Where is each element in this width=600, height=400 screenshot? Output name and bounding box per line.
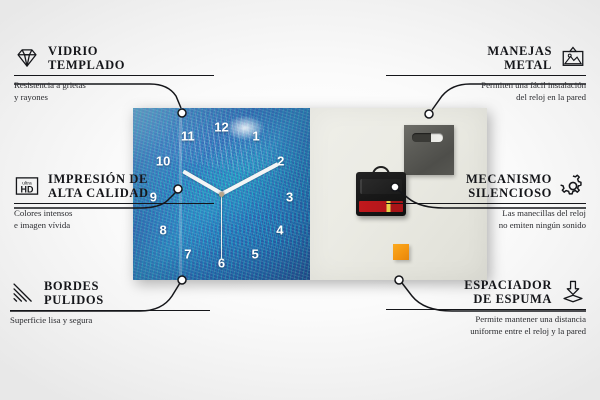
feature-vidrio-templado: VIDRIO TEMPLADO Resistencia a grietas y … [14, 44, 214, 104]
feature-impresion-desc-line1: Colores intensos [14, 208, 214, 220]
feature-espaciador-desc-line1: Permite mantener una distancia [386, 314, 586, 326]
feature-manejas-header: MANEJAS METAL [386, 44, 586, 72]
feature-impresion-rule [14, 203, 214, 204]
infographic-canvas: 12 1 2 3 4 5 6 7 8 9 10 11 [0, 0, 600, 400]
feature-bordes-pulidos: BORDES PULIDOS Superficie lisa y segura [10, 279, 210, 327]
feature-espaciador-desc-line2: uniforme entre el reloj y la pared [386, 326, 586, 338]
feature-manejas-title-line2: METAL [487, 58, 552, 72]
feature-manejas-desc-line1: Permiten una fácil instalación [386, 80, 586, 92]
feature-manejas-desc: Permiten una fácil instalación del reloj… [386, 80, 586, 104]
feature-vidrio-title-line1: VIDRIO [48, 44, 125, 58]
feature-impresion-desc: Colores intensos e imagen vívida [14, 208, 214, 232]
feature-manejas-title-line1: MANEJAS [487, 44, 552, 58]
feature-mecanismo-title: MECANISMO SILENCIOSO [466, 172, 552, 200]
feature-espaciador-header: ESPACIADOR DE ESPUMA [386, 278, 586, 306]
ultra-hd-icon-large-text: HD [21, 185, 34, 195]
clock-numeral-1: 1 [252, 130, 259, 143]
feature-bordes-desc-line1: Superficie lisa y segura [10, 315, 210, 327]
clock-numeral-2: 2 [277, 155, 284, 168]
feature-espaciador-espuma: ESPACIADOR DE ESPUMA Permite mantener un… [386, 278, 586, 338]
feature-bordes-desc: Superficie lisa y segura [10, 315, 210, 327]
feature-impresion-title-line1: IMPRESIÓN DE [48, 172, 149, 186]
feature-bordes-rule [10, 310, 210, 311]
feature-mecanismo-title-line1: MECANISMO [466, 172, 552, 186]
foam-spacer-icon [560, 279, 586, 305]
clock-second-hand [221, 194, 222, 259]
feature-impresion-title-line2: ALTA CALIDAD [48, 186, 149, 200]
feature-mecanismo-rule [386, 203, 586, 204]
diamond-icon [14, 45, 40, 71]
feature-vidrio-header: VIDRIO TEMPLADO [14, 44, 214, 72]
feature-vidrio-rule [14, 75, 214, 76]
foam-spacer-pad [393, 244, 409, 260]
clock-numeral-11: 11 [181, 130, 195, 143]
feature-bordes-title-line2: PULIDOS [44, 293, 104, 307]
feature-mecanismo-title-line2: SILENCIOSO [466, 186, 552, 200]
clock-numeral-7: 7 [184, 248, 191, 261]
feature-impresion-desc-line2: e imagen vívida [14, 220, 214, 232]
feature-manejas-title: MANEJAS METAL [487, 44, 552, 72]
clock-numeral-10: 10 [156, 155, 170, 168]
clock-numeral-5: 5 [252, 248, 259, 261]
feature-mecanismo-desc-line1: Las manecillas del reloj [386, 208, 586, 220]
polished-edge-icon [10, 280, 36, 306]
feature-vidrio-title-line2: TEMPLADO [48, 58, 125, 72]
feature-mecanismo-desc-line2: no emiten ningún sonido [386, 220, 586, 232]
clock-minute-hand [221, 163, 279, 196]
feature-vidrio-desc-line1: Resistencia a grietas [14, 80, 214, 92]
clock-numeral-4: 4 [276, 224, 283, 237]
feature-manejas-desc-line2: del reloj en la pared [386, 92, 586, 104]
feature-mecanismo-desc: Las manecillas del reloj no emiten ningú… [386, 208, 586, 232]
feature-impresion-header: ultra HD IMPRESIÓN DE ALTA CALIDAD [14, 172, 214, 200]
feature-manejas-metal: MANEJAS METAL Permiten una fácil instala… [386, 44, 586, 104]
feature-vidrio-desc-line2: y rayones [14, 92, 214, 104]
metal-hanger-plate [404, 125, 454, 175]
hanging-frame-icon [560, 45, 586, 71]
feature-vidrio-desc: Resistencia a grietas y rayones [14, 80, 214, 104]
feature-bordes-title: BORDES PULIDOS [44, 279, 104, 307]
ultra-hd-icon: ultra HD [14, 173, 40, 199]
feature-impresion-alta-calidad: ultra HD IMPRESIÓN DE ALTA CALIDAD Color… [14, 172, 214, 232]
gear-icon [560, 173, 586, 199]
clock-numeral-3: 3 [286, 190, 293, 203]
clock-numeral-12: 12 [214, 120, 228, 133]
feature-mecanismo-header: MECANISMO SILENCIOSO [386, 172, 586, 200]
feature-espaciador-desc: Permite mantener una distancia uniforme … [386, 314, 586, 338]
feature-bordes-header: BORDES PULIDOS [10, 279, 210, 307]
feature-espaciador-rule [386, 309, 586, 310]
feature-espaciador-title-line2: DE ESPUMA [464, 292, 552, 306]
feature-impresion-title: IMPRESIÓN DE ALTA CALIDAD [48, 172, 149, 200]
clock-center-cap [219, 192, 224, 197]
feature-vidrio-title: VIDRIO TEMPLADO [48, 44, 125, 72]
feature-espaciador-title-line1: ESPACIADOR [464, 278, 552, 292]
feature-espaciador-title: ESPACIADOR DE ESPUMA [464, 278, 552, 306]
feature-mecanismo-silencioso: MECANISMO SILENCIOSO Las manecillas del … [386, 172, 586, 232]
feature-bordes-title-line1: BORDES [44, 279, 104, 293]
feature-manejas-rule [386, 75, 586, 76]
hanger-keyhole-slot [412, 133, 443, 142]
